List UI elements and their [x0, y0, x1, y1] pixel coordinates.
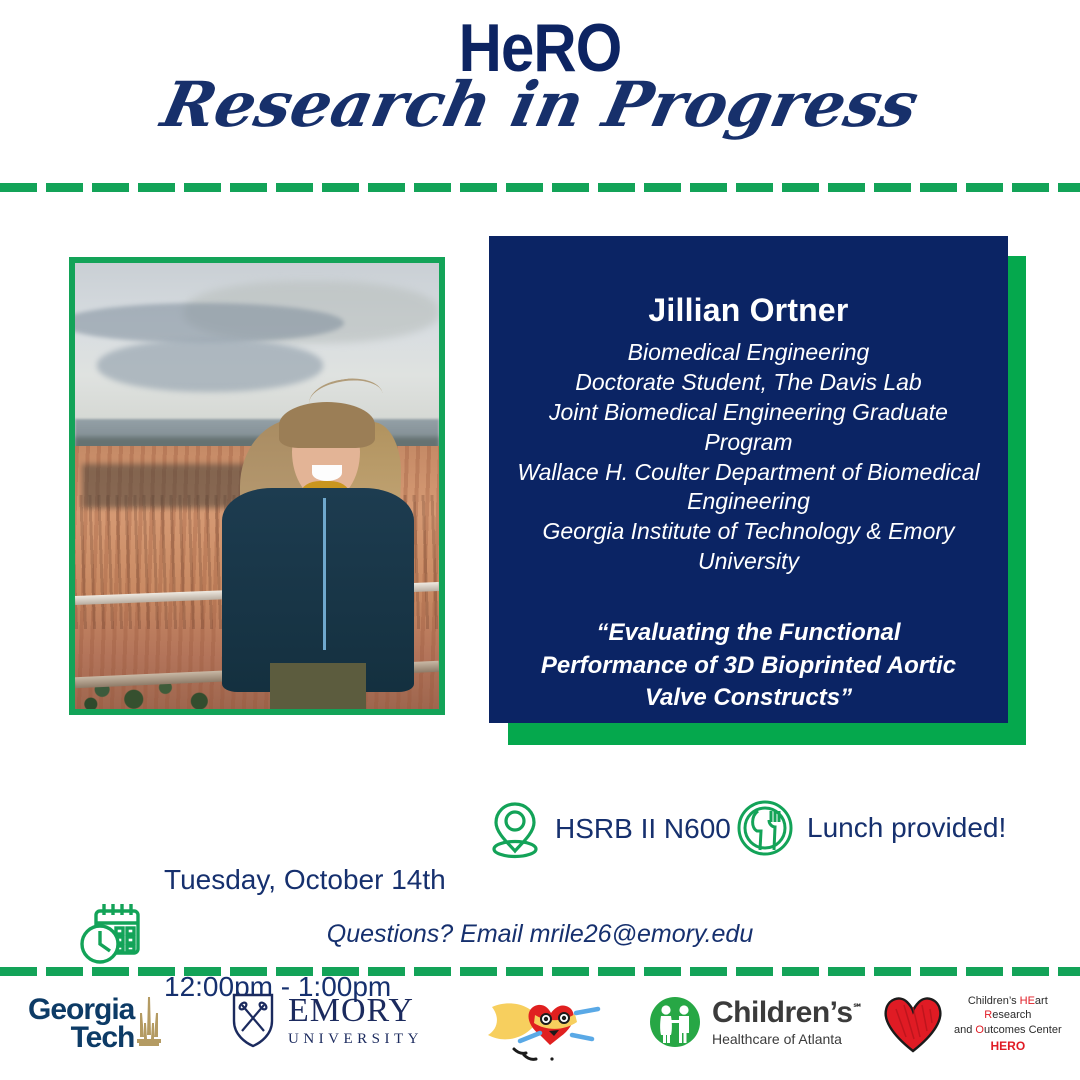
photo-canvas — [75, 263, 439, 709]
affiliation-line: Engineering — [515, 487, 982, 517]
choa-name: Children’s — [712, 996, 853, 1029]
date-line-1: Tuesday, October 14th — [164, 862, 446, 898]
emory-shield-icon — [230, 991, 276, 1049]
hero-line-4: HERO — [954, 1038, 1062, 1054]
hero-line-2: Research — [954, 1008, 1062, 1023]
person-zipper — [323, 498, 326, 650]
hero-l3c: utcomes Center — [984, 1024, 1062, 1036]
person-hair-wisp — [307, 374, 386, 424]
detail-location: HSRB II N600 — [487, 798, 731, 860]
emory-wordmark: EMORY UNIVERSITY — [288, 994, 423, 1047]
choa-sm-mark: ℠ — [853, 1003, 863, 1014]
detail-lunch: Lunch provided! — [735, 798, 1006, 858]
page-subtitle: Research in Progress — [0, 72, 1080, 137]
hero-l1c: art — [1035, 995, 1048, 1007]
hero-l2b: esearch — [992, 1009, 1031, 1021]
speaker-name: Jillian Ortner — [515, 292, 982, 329]
affiliation-line: Wallace H. Coulter Department of Biomedi… — [515, 458, 982, 488]
logo-georgia-tech: Georgia Tech — [28, 995, 164, 1053]
affiliation-line: University — [515, 547, 982, 577]
gt-tower-icon — [134, 995, 164, 1053]
logo-superhero-heart — [480, 989, 610, 1069]
questions-line: Questions? Email mrile26@emory.edu — [0, 920, 1080, 949]
detail-location-text: HSRB II N600 — [555, 811, 731, 847]
hero-heart-icon — [880, 993, 946, 1055]
poster-root: HeRO Research in Progress — [0, 0, 1080, 1080]
speaker-photo — [69, 257, 445, 715]
gt-wordmark: Georgia Tech — [28, 996, 134, 1053]
map-pin-icon — [487, 798, 543, 860]
divider-bottom — [0, 967, 1080, 976]
poster-header: HeRO Research in Progress — [0, 0, 1080, 178]
affiliation-line: Joint Biomedical Engineering Graduate Pr… — [515, 398, 982, 458]
affiliation-line: Biomedical Engineering — [515, 338, 982, 368]
choa-line-2: Healthcare of Atlanta — [712, 1032, 862, 1046]
person-pants — [270, 663, 366, 709]
choa-wordmark: Children’s℠ Healthcare of Atlanta — [712, 998, 862, 1046]
speaker-info-panel: Jillian Ortner Biomedical Engineering Do… — [489, 236, 1008, 723]
logo-emory: EMORY UNIVERSITY — [230, 991, 423, 1049]
hero-line-1: Children’s HEart — [954, 994, 1062, 1009]
affiliation-line: Georgia Institute of Technology & Emory — [515, 517, 982, 547]
hero-center-wordmark: Children’s HEart Research and Outcomes C… — [954, 994, 1062, 1055]
gt-line-1: Georgia — [28, 996, 134, 1025]
superhero-heart-mascot-icon — [480, 989, 610, 1069]
divider-top — [0, 183, 1080, 192]
event-details: Tuesday, October 14th 12:00pm - 1:00pm H… — [0, 784, 1080, 884]
logo-childrens-healthcare: Children’s℠ Healthcare of Atlanta — [648, 995, 862, 1049]
hero-l1b: HE — [1020, 995, 1035, 1007]
photo-person — [213, 379, 431, 709]
choa-kids-icon — [648, 995, 702, 1049]
talk-title: “Evaluating the Functional Performance o… — [515, 617, 982, 714]
plate-utensils-icon — [735, 798, 795, 858]
hero-l3b: O — [975, 1024, 984, 1036]
emory-line-2: UNIVERSITY — [288, 1032, 423, 1047]
emory-line-1: EMORY — [288, 994, 423, 1028]
logo-hero-center: Children’s HEart Research and Outcomes C… — [880, 993, 1062, 1055]
hero-l3a: and — [954, 1024, 975, 1036]
person-jacket — [222, 488, 414, 693]
detail-lunch-text: Lunch provided! — [807, 810, 1006, 846]
hero-l1a: Children’s — [968, 995, 1020, 1007]
logo-row: Georgia Tech — [0, 985, 1080, 1080]
hero-line-3: and Outcomes Center — [954, 1023, 1062, 1038]
gt-line-2: Tech — [28, 1024, 134, 1053]
affiliation-line: Doctorate Student, The Davis Lab — [515, 368, 982, 398]
choa-line-1: Children’s℠ — [712, 998, 862, 1028]
